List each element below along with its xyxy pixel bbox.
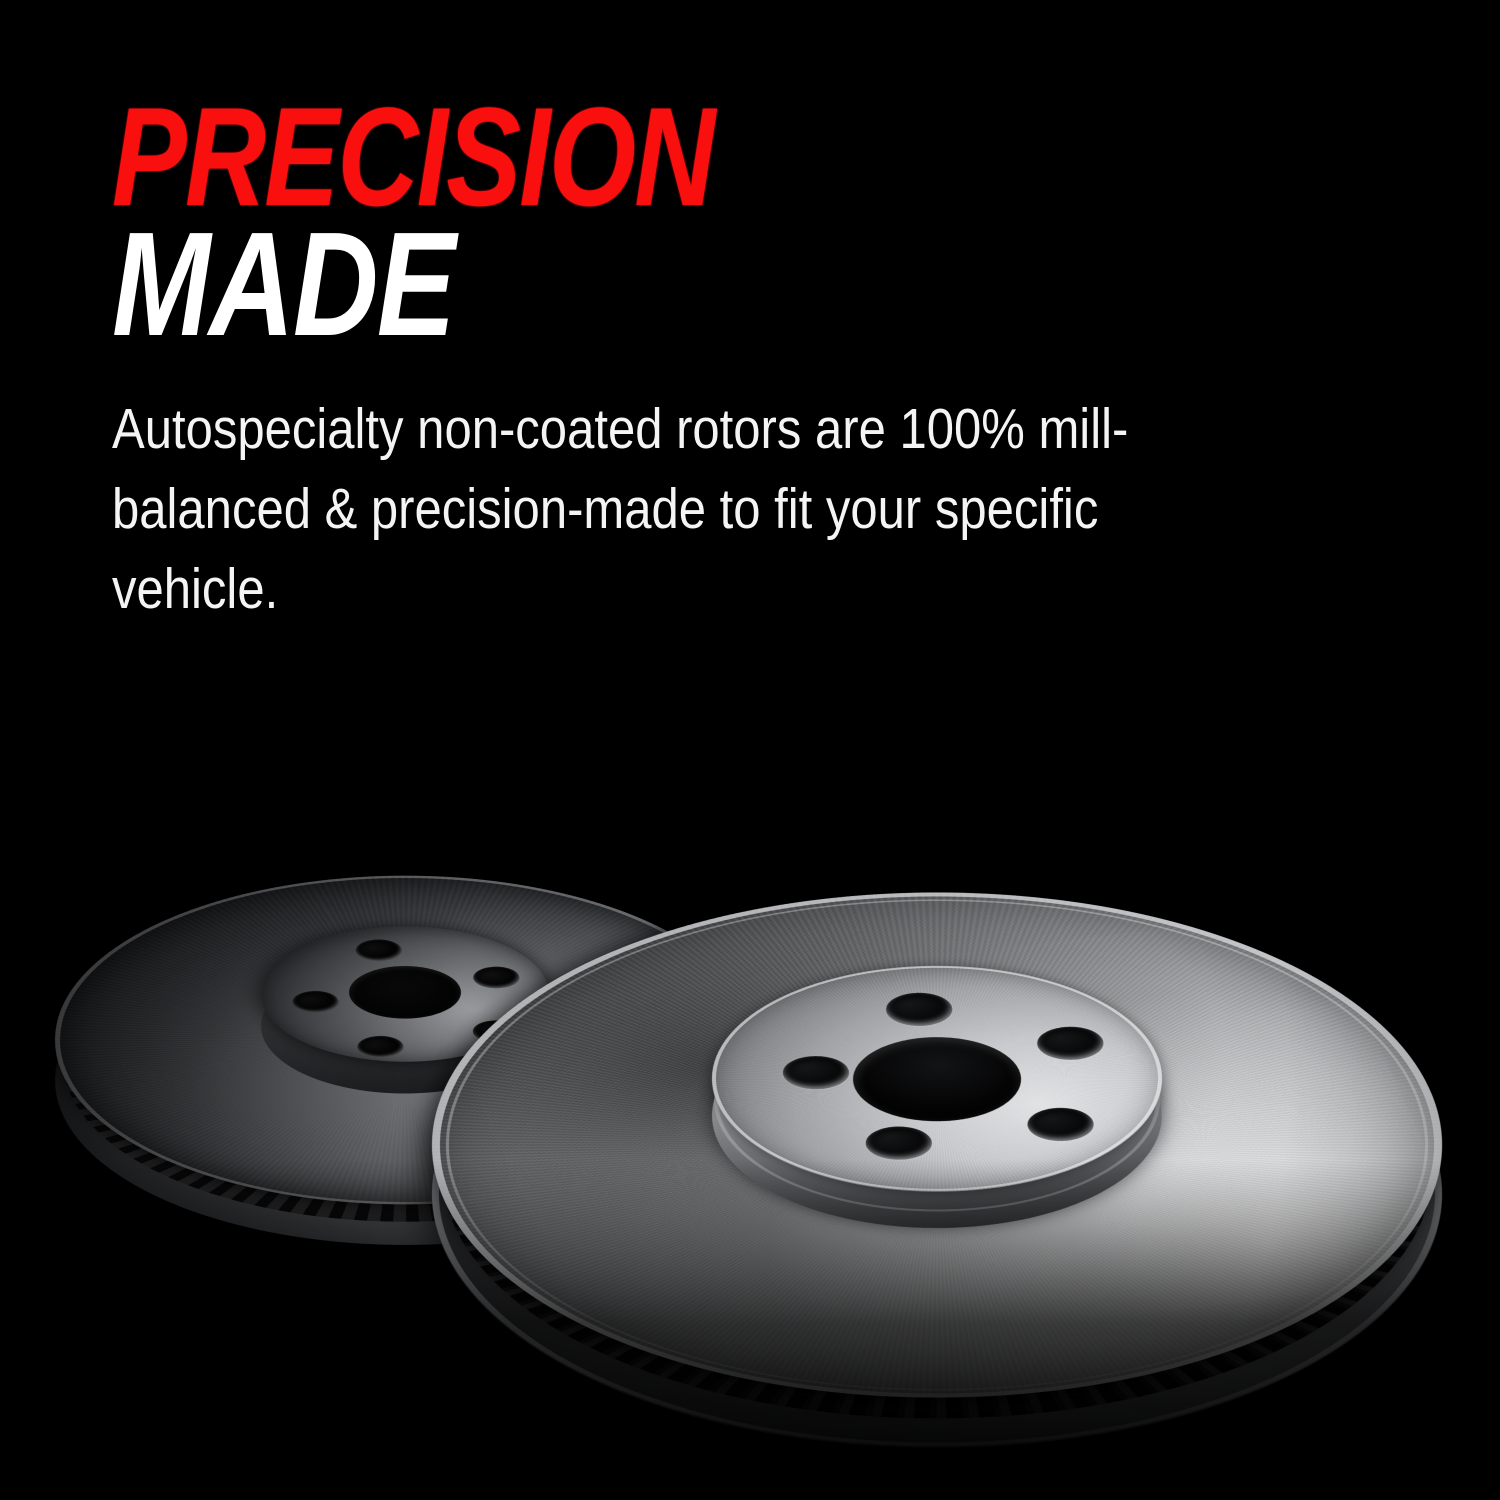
headline-precision: PRECISION (112, 100, 1072, 215)
body-copy: Autospecialty non-coated rotors are 100%… (112, 390, 1264, 629)
copy-block: PRECISION MADE Autospecialty non-coated … (112, 100, 1312, 629)
headline-made: MADE (112, 221, 1072, 348)
promo-banner: PRECISION MADE Autospecialty non-coated … (0, 0, 1500, 1500)
